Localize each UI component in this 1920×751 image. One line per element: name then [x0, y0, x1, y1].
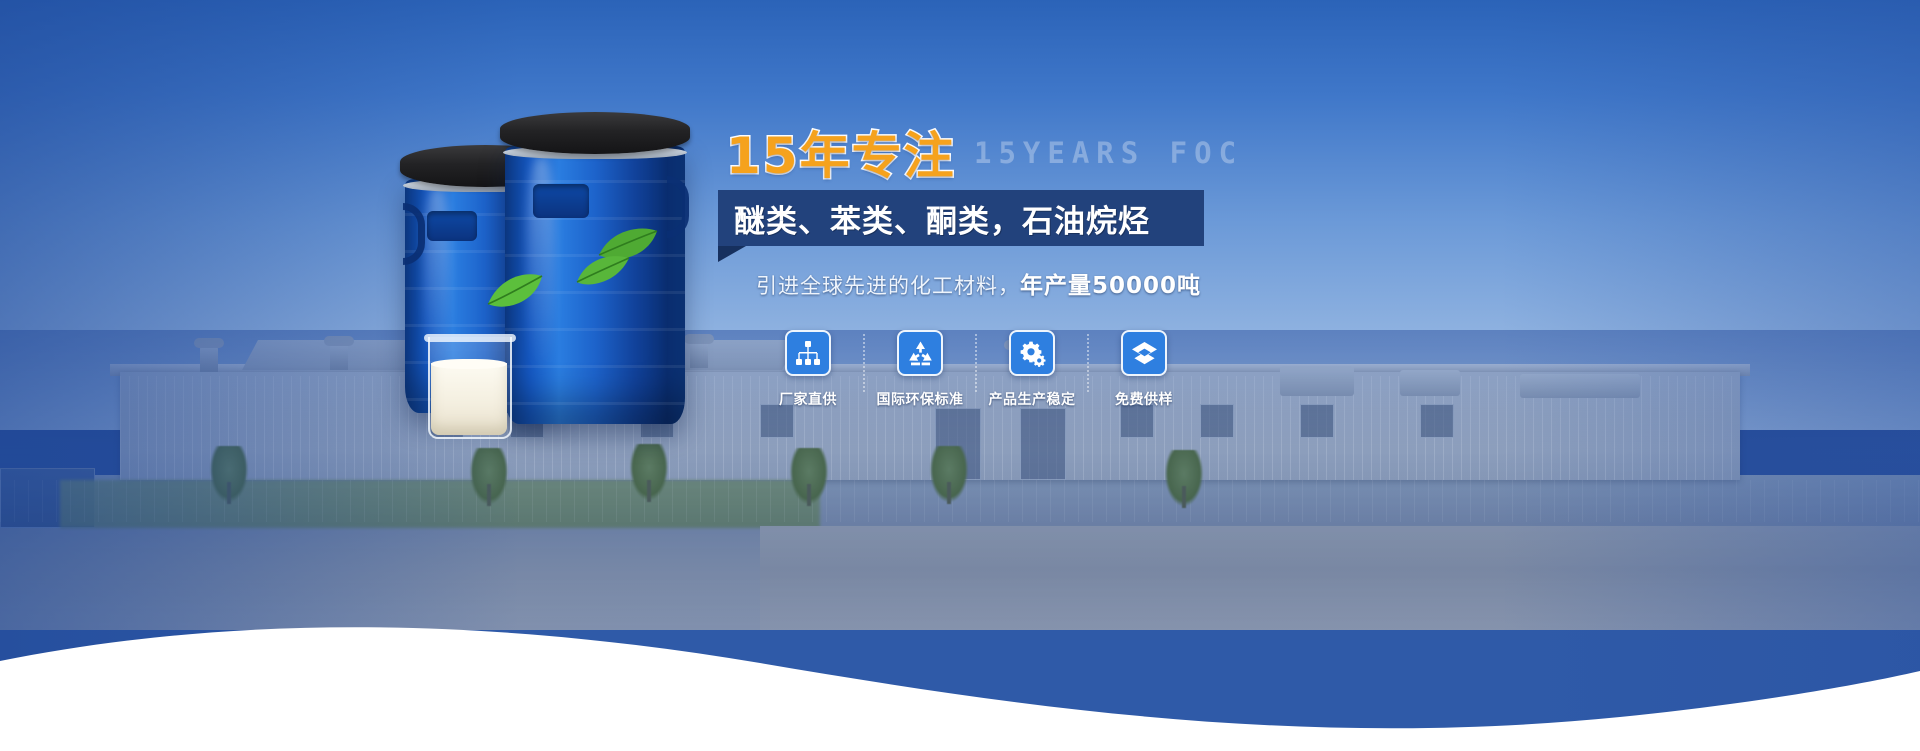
product-line-text: 醚类、苯类、酮类，石油烷烃 [734, 196, 1150, 241]
drum-grip [533, 184, 589, 218]
sample-beaker [428, 337, 512, 439]
tagline-prefix: 引进全球先进的化工材料， [756, 274, 1020, 298]
wave-shape [0, 511, 1920, 751]
feature-label: 厂家直供 [779, 389, 837, 409]
layers-box-icon [1121, 330, 1167, 376]
tagline: 引进全球先进的化工材料，年产量50000吨 [756, 266, 1478, 300]
tagline-highlight: 年产量50000吨 [1020, 273, 1201, 299]
drum-lid [500, 112, 691, 154]
feature-label: 国际环保标准 [877, 389, 964, 409]
hero-banner: 15年专注 15YEARS FOC 醚类、苯类、酮类，石油烷烃 引进全球先进的化… [0, 0, 1920, 751]
box-notch [718, 246, 746, 262]
beaker-liquid-surface [431, 359, 507, 369]
feature-label: 免费供样 [1115, 389, 1173, 409]
org-chart-icon [785, 330, 831, 376]
feature-item-stable-production[interactable]: 产品生产稳定 [976, 330, 1088, 409]
banner-copy: 15年专注 15YEARS FOC 醚类、苯类、酮类，石油烷烃 引进全球先进的化… [718, 120, 1478, 300]
feature-label: 产品生产稳定 [989, 389, 1076, 409]
green-leaf-icon [575, 252, 631, 288]
feature-list: 厂家直供 国际环保标准 [752, 330, 1200, 409]
beaker-liquid [431, 363, 507, 435]
beaker-rim [424, 334, 516, 342]
headline-chinese: 15年专注 [726, 116, 956, 188]
headline-row: 15年专注 15YEARS FOC [718, 120, 1478, 182]
gears-icon [1009, 330, 1055, 376]
product-line-box: 醚类、苯类、酮类，石油烷烃 [718, 190, 1204, 246]
green-leaf-icon [486, 272, 544, 312]
feature-item-free-sample[interactable]: 免费供样 [1088, 330, 1200, 409]
recycle-icon [897, 330, 943, 376]
feature-item-eco-standard[interactable]: 国际环保标准 [864, 330, 976, 409]
bottom-wave-decoration [0, 511, 1920, 751]
headline-english: 15YEARS FOC [974, 136, 1243, 170]
feature-item-factory-direct[interactable]: 厂家直供 [752, 330, 864, 409]
drum-grip [427, 211, 477, 241]
